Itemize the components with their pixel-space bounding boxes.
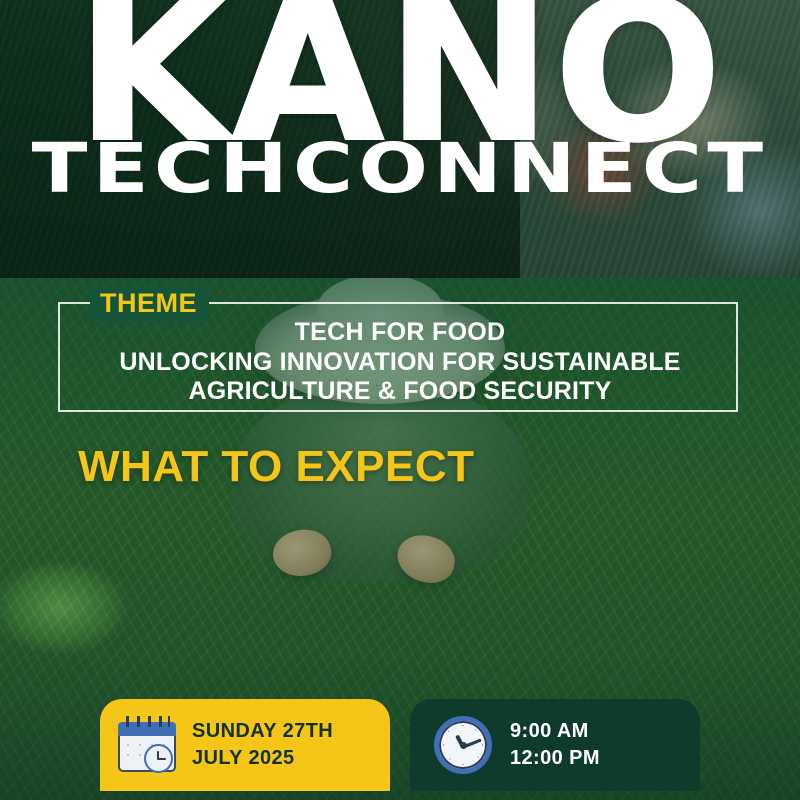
event-date-text: SUNDAY 27TH JULY 2025 — [192, 718, 333, 772]
clock-center-pin — [460, 742, 467, 749]
calendar-icon — [118, 716, 176, 774]
header-photo-band: KANO TECHCONNECT — [0, 0, 800, 278]
poster-content: THEME TECH FOR FOOD UNLOCKING INNOVATION… — [0, 278, 800, 800]
event-poster: KANO TECHCONNECT THEME TECH FOR FOOD UNL… — [0, 0, 800, 800]
event-date-line-2: JULY 2025 — [192, 745, 333, 772]
theme-line-2: UNLOCKING INNOVATION FOR SUSTAINABLE — [60, 348, 740, 378]
event-time-pill: 9:00 AM 12:00 PM — [410, 699, 700, 791]
calendar-clock-badge — [144, 744, 173, 773]
event-time-text: 9:00 AM 12:00 PM — [510, 718, 600, 772]
theme-label: THEME — [90, 287, 209, 322]
event-date-pill: SUNDAY 27TH JULY 2025 — [100, 699, 390, 791]
theme-line-3: AGRICULTURE & FOOD SECURITY — [60, 377, 740, 407]
calendar-rings — [124, 716, 170, 728]
event-time-line-1: 9:00 AM — [510, 718, 600, 745]
theme-text: TECH FOR FOOD UNLOCKING INNOVATION FOR S… — [60, 318, 740, 407]
what-to-expect-heading: WHAT TO EXPECT — [78, 442, 475, 492]
event-date-line-1: SUNDAY 27TH — [192, 718, 333, 745]
theme-line-1: TECH FOR FOOD — [60, 318, 740, 348]
theme-box: THEME TECH FOR FOOD UNLOCKING INNOVATION… — [58, 302, 738, 412]
event-time-line-2: 12:00 PM — [510, 745, 600, 772]
brand-subtitle: TECHCONNECT — [0, 135, 800, 203]
clock-icon — [434, 716, 492, 774]
